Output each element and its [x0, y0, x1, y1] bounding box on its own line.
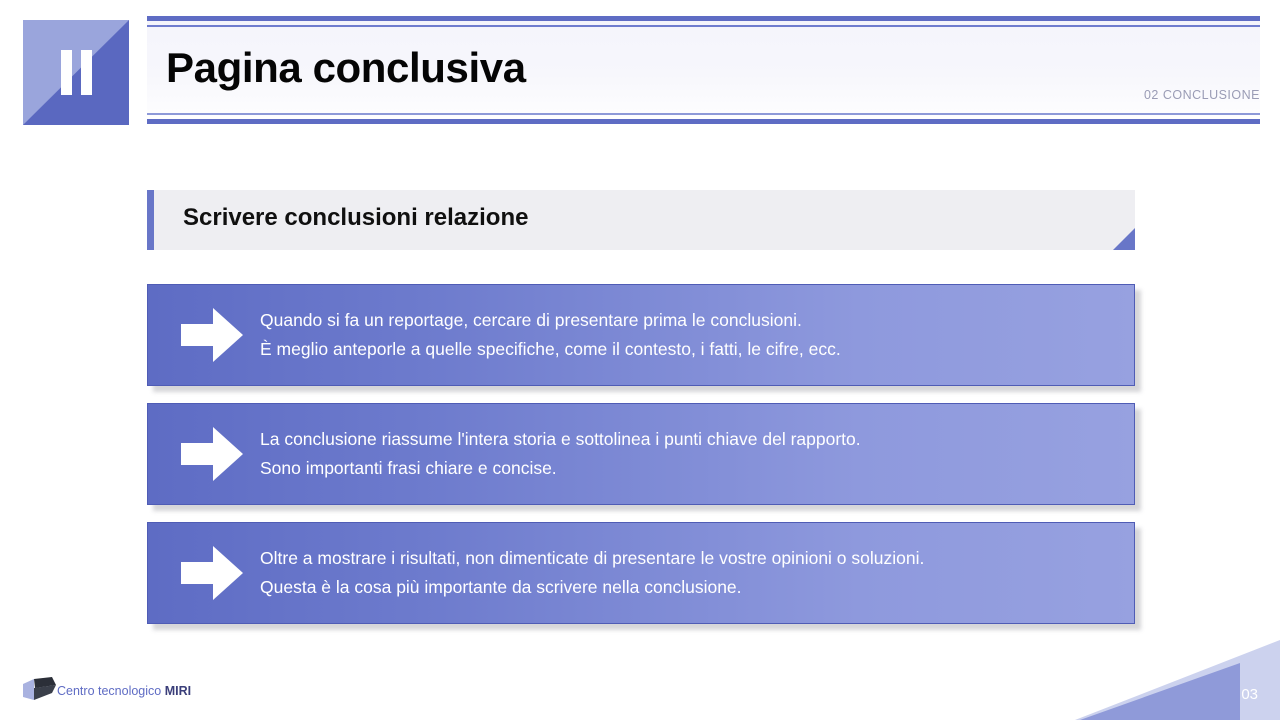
slide-header: Pagina conclusiva 02 CONCLUSIONE	[0, 0, 1280, 140]
section-heading-accent	[147, 190, 154, 250]
content-card[interactable]: La conclusione riassume l'intera storia …	[147, 403, 1135, 505]
header-rule-thick-top	[147, 16, 1260, 21]
content-card-text: Oltre a mostrare i risultati, non diment…	[260, 544, 924, 602]
content-card[interactable]: Oltre a mostrare i risultati, non diment…	[147, 522, 1135, 624]
section-heading-fold-corner	[1113, 228, 1135, 250]
content-card-line-2: Questa è la cosa più importante da scriv…	[260, 573, 924, 602]
header-rule-thin-top	[147, 25, 1260, 27]
content-card-line-2: È meglio anteporle a quelle specifiche, …	[260, 335, 841, 364]
page-number: 03	[1241, 686, 1258, 703]
content-card[interactable]: Quando si fa un reportage, cercare di pr…	[147, 284, 1135, 386]
page-title: Pagina conclusiva	[166, 44, 526, 92]
slide-number-badge	[23, 20, 129, 125]
pause-bars-icon	[23, 20, 129, 125]
corner-triangle-front	[1080, 663, 1240, 720]
content-card-line-2: Sono importanti frasi chiare e concise.	[260, 454, 861, 483]
footer-brand-light: Centro tecnologico	[57, 684, 165, 698]
footer-brand: Centro tecnologico MIRI	[57, 684, 191, 698]
content-card-line-1: Oltre a mostrare i risultati, non diment…	[260, 544, 924, 573]
corner-decoration	[1060, 628, 1280, 720]
header-rule-thick-bottom	[147, 119, 1260, 124]
section-heading-label: Scrivere conclusioni relazione	[183, 204, 528, 232]
arrow-right-icon	[181, 544, 243, 602]
corner-triangle-back	[1075, 640, 1280, 720]
arrow-right-icon	[181, 306, 243, 364]
pause-bar-left	[61, 50, 72, 95]
content-card-line-1: Quando si fa un reportage, cercare di pr…	[260, 306, 841, 335]
pause-bar-right	[81, 50, 92, 95]
arrow-right-icon	[181, 425, 243, 483]
cube-logo-icon	[22, 676, 58, 706]
header-rule-thin-bottom	[147, 113, 1260, 115]
content-card-text: La conclusione riassume l'intera storia …	[260, 425, 861, 483]
footer-brand-strong: MIRI	[165, 684, 191, 698]
section-tag: 02 CONCLUSIONE	[1144, 88, 1260, 102]
content-card-line-1: La conclusione riassume l'intera storia …	[260, 425, 861, 454]
content-card-text: Quando si fa un reportage, cercare di pr…	[260, 306, 841, 364]
